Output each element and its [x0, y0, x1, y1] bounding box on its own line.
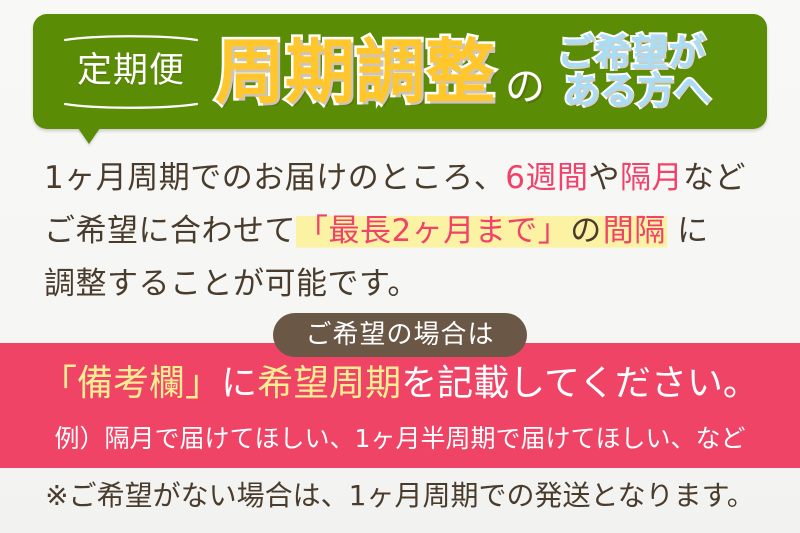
body-line1-segment-e: など [683, 160, 746, 196]
subscription-label: 定期便 [77, 54, 185, 89]
body-line-3: 調整することが可能です。 [44, 258, 774, 311]
decorative-rule-bottom-icon [63, 101, 199, 110]
headline-particle: の [505, 67, 545, 107]
promo-banner: 定期便 周期調整 の ご希望が ある方へ 1ヶ月周期でのお届けのところ、6週間や… [0, 0, 800, 533]
callout-headline: 「備考欄」に希望周期を記載してください。 [20, 364, 780, 404]
callout-headline-instruction: を記載してください。 [401, 363, 759, 404]
header-content: 定期便 周期調整 の ご希望が ある方へ [33, 14, 767, 129]
header-speech-bubble: 定期便 周期調整 の ご希望が ある方へ [33, 14, 767, 129]
body-line-1: 1ヶ月周期でのお届けのところ、6週間や隔月など [44, 152, 774, 205]
body-line1-highlight-6weeks: 6週間 [505, 160, 588, 196]
body-line2-segment-c: の [570, 213, 602, 249]
body-line1-segment-a: 1ヶ月周期でのお届けのところ、 [44, 160, 505, 196]
body-line1-highlight-bimonthly: 隔月 [620, 160, 683, 196]
headline-subtext-line1: ご希望が [557, 34, 711, 72]
callout-headline-desired-cycle: 希望周期 [257, 363, 401, 404]
headline-main: 周期調整 [215, 37, 495, 107]
body-line2-highlight-maxperiod: 「最長2ヶ月まで」 [296, 213, 570, 249]
body-line1-segment-c: や [588, 160, 620, 196]
body-line2-highlight-interval: 間隔 [602, 213, 667, 249]
callout-example: 例）隔月で届けてほしい、1ヶ月半周期で届けてほしい、など [20, 425, 780, 453]
callout-badge: ご希望の場合は [273, 313, 527, 357]
body-paragraph: 1ヶ月周期でのお届けのところ、6週間や隔月など ご希望に合わせて「最長2ヶ月まで… [44, 152, 774, 311]
body-line2-segment-a: ご希望に合わせて [44, 213, 296, 249]
callout-headline-remarks-field: 「備考欄」 [41, 363, 221, 404]
callout-badge-label: ご希望の場合は [305, 322, 494, 348]
decorative-rule-top-icon [63, 34, 199, 43]
speech-bubble-tail-icon [78, 128, 100, 144]
body-line-2: ご希望に合わせて「最長2ヶ月まで」の間隔 に [44, 205, 774, 258]
footer-note: ※ご希望がない場合は、1ヶ月周期での発送となります。 [20, 481, 780, 512]
headline-subtext-group: ご希望が ある方へ [557, 34, 711, 109]
subscription-label-group: 定期便 [61, 24, 201, 120]
headline-subtext-line2: ある方へ [563, 72, 711, 110]
callout-headline-particle: に [221, 363, 257, 404]
body-line2-segment-e: に [667, 213, 709, 249]
